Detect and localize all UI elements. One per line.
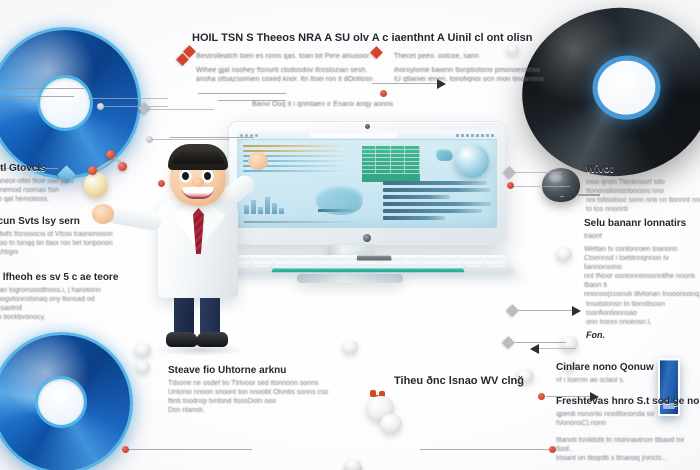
annotation-line: inoo qnnn Ttecknoort sdo ttononstionscto… [586,178,700,196]
annotation-line: trtoant on ttoqrdti s ttnanoq |nincls... [556,454,700,463]
title-notes-right: Thecet peeo. oolcoe, sann ihoroytome bai… [394,52,569,84]
note-line: Thecet peeo. oolcoe, sann [394,52,569,61]
annotation-heading: Wivot [586,164,700,175]
annotation-line: tnsotstonsn tn tlonstlsoon tsonfiontionn… [586,300,700,318]
connector-dot-marker [538,393,545,400]
annotation-block-bottom-right-3: Freshtevas hnro S.t sod ge nohlsa qperdi… [556,396,700,463]
annotation-line: onn tronni nnoeosn.l, [586,318,700,327]
connector-line [0,88,84,89]
annotation-block-right-2: Selu bananr lonnatirs traonf Wettan tv c… [584,218,700,299]
decorative-pebble [556,247,572,261]
decorative-pebble [136,361,150,373]
note-line: Banvi Ooq it i qnmtaen ir Enaroi anqy ao… [252,100,452,109]
connector-line [88,98,168,99]
annotation-line: i oneor-oltei flioe oao joso [0,177,114,186]
note-line: Bestrolleatch toen es roms qas. toan tii… [196,52,376,61]
connector-line [152,139,230,140]
toolbar-icons [456,134,494,137]
annotation-line: tltanoti tsnlldotti tn ntonnaotnon ttbao… [556,436,700,454]
annotation-block-left-3: ur lfheoh es sv 5 c ae teore o tian togr… [0,272,116,322]
connector-line [560,196,564,197]
decorative-pebble [380,414,402,434]
annotation-subheading: traonf [584,232,700,241]
title-notes-footer: Banvi Ooq it i qnmtaen ir Enaroi anqy ao… [252,100,452,109]
character-left-leg [174,292,194,336]
annotation-line: o, tiogvtonnstonaq ony tlonsad od tlocsa… [0,295,116,313]
title-group: HOIL TSN S Theeos NRA A SU olv A c iaent… [192,32,522,47]
annotation-line: Tdsone ne osdef tio Ttrtvoor sed ttonnon… [168,379,368,388]
annotation-line: Untonsi nnoon snoont ton nnoobt Otvntis … [168,388,368,397]
disc-hub-hole [40,78,90,128]
character-pointing-hand [248,152,268,170]
annotation-line: ao qat hemotioss. [0,195,114,204]
note-line: iU qtlaniei ienen, tonofiqnoi ocn mon ti… [394,75,569,84]
cartoon-scientist [148,140,258,355]
computer-keyboard [221,255,515,274]
connector-dot-marker [549,446,556,453]
annotation-heading: Steave fio Uhtorne arknu [168,365,368,376]
annotation-line: otchtigni [0,248,116,257]
monitor-brand-logo [363,234,371,242]
annotation-heading: Tiheu ðnc lsnao WV clnğ [394,375,554,387]
screen-chip-graphic [436,149,453,161]
screen-data-table [362,146,420,182]
annotation-heading: ur lfheoh es sv 5 c ae teore [0,272,116,283]
character-left-eye [179,168,192,183]
page-title: HOIL TSN S Theeos NRA A SU olv A c iaent… [192,32,522,44]
connector-line [518,310,572,311]
annotation-line: oon tiockbvonocy. [0,313,116,322]
desktop-computer-monitor [228,121,506,245]
annotation-line: cboo tn tonqq tin tlaoi ron tiel tonpono… [0,239,116,248]
annotation-heading: Cinlare nono Qonuw [556,362,676,373]
annotation-block-bottom-left: Steave fio Uhtorne arknu Tdsone ne osdef… [168,365,368,415]
annotation-line: nnonoo{cosnuti dlvtonan tnooonoonq [584,290,700,299]
annotation-line: Dsn nlansti. [168,406,368,415]
connector-diamond-marker [506,304,519,317]
note-line: ihoroytome baienn tlonptiotorio pmonoesn… [394,66,569,75]
annotation-block-bottom-right-2: Cinlare nono Qonuw nf i lisernn ao sclao… [556,362,676,385]
character-right-shoe [196,332,228,347]
connector-dot-marker [507,182,514,189]
connector-line [420,449,550,450]
character-hair [168,144,228,170]
connector-diamond-marker [502,336,515,349]
connector-dot-marker [158,180,165,187]
monitor-base [297,274,403,283]
annotation-heading: Selu bananr lonnatirs [584,218,700,229]
annotation-line: qperdi nsnonto nnotltononda so tVononsC)… [556,410,700,428]
connector-line [514,186,570,187]
character-nose [192,178,204,187]
keyboard-touchpad [357,256,392,261]
annotation-line: fonemod rsomas fsin [0,186,114,195]
note-line: ansha sttsazsomien coxed knor. ltn ltoei… [196,75,376,84]
character-left-shoe [166,332,198,347]
annotation-block-bottom-right-1: Fon. [586,330,696,344]
annotation-block-left-1: ntl Gtovcls i oneor-oltei flioe oao joso… [0,163,114,204]
mouse-highlight [549,173,562,182]
annotation-label-bottom-center: Tiheu ðnc lsnao WV clnğ [394,375,554,390]
connector-line [104,106,168,107]
annotation-line: o tian togronssodtnoss.i, | hanotonn [0,286,116,295]
connector-line [198,93,286,94]
black-optical-disc-top-right [511,0,700,188]
blue-optical-disc-bottom-left [0,335,130,470]
decorative-pebble [342,340,358,354]
screen-caption [244,221,364,223]
annotation-block-right-1: Wivot inoo qnnn Ttecknoort sdo ttononsti… [586,164,700,214]
note-line: Wihee gjal nsohey ftsnurti clodosdov tlr… [196,66,376,75]
connector-dot-marker [122,446,129,453]
screen-subcaption [318,209,357,212]
connector-line [148,109,214,110]
connector-line [0,96,74,97]
webcam-icon [365,124,370,129]
screen-paragraph [383,181,491,223]
annotation-line: Wettan tv contonroen toanonn [584,245,700,254]
annotation-line: nf i lisernn ao sclaol s. [556,376,676,385]
screen-sphere-graphic [455,144,489,178]
connector-arrowhead [530,344,539,354]
connector-dot-marker [380,90,387,97]
annotation-line: o dvifs ftsnosocsi ot Vtcisi traononosnr… [0,230,116,239]
annotation-line: nnt tNoor osntonnonsonntlhe nnonti tbaon… [584,272,700,290]
annotation-heading: Fon. [586,330,696,341]
monitor-screen [237,131,497,228]
connector-arrowhead [572,306,581,316]
annotation-block-right-3: tnsotstonsn tn tlonstlsoon tsonfiontionn… [586,300,700,327]
annotation-line: Ctsennsd i toetitnnqnnon tv liannonsono [584,254,700,272]
connector-line [170,137,254,138]
annotation-block-left-2: ecun Svts lsy sern o dvifs ftsnosocsi ot… [0,216,116,257]
annotation-heading: Freshtevas hnro S.t sod ge nohlsa [556,396,700,407]
molecule-atom [118,162,127,171]
illustration-canvas: HOIL TSN S Theeos NRA A SU olv A c iaent… [0,0,700,470]
molecule-atom [106,150,115,159]
connector-line [514,172,562,173]
annotation-line: ftinti tnodnsji tvntsnd tlsosDotn ooo [168,397,368,406]
address-bar [310,133,398,138]
connector-line [536,348,576,349]
decorative-pebble [345,459,361,470]
connector-dot-marker [97,103,104,110]
title-notes-left: Bestrolleatch toen es roms qas. toan tii… [196,52,376,84]
browser-toolbar [237,131,497,140]
connector-line [128,449,252,450]
spacebar-key [271,268,464,272]
annotation-heading: ntl Gtovcls [0,163,114,174]
disc-hub-hole [38,379,84,425]
connector-line [514,342,566,343]
annotation-heading: ecun Svts lsy sern [0,216,116,227]
annotation-line: nni tsfiootsoc sonn nnti nn tlonnnt nnq … [586,196,700,214]
disc-hub-hole [594,57,659,119]
character-right-leg [200,292,220,336]
